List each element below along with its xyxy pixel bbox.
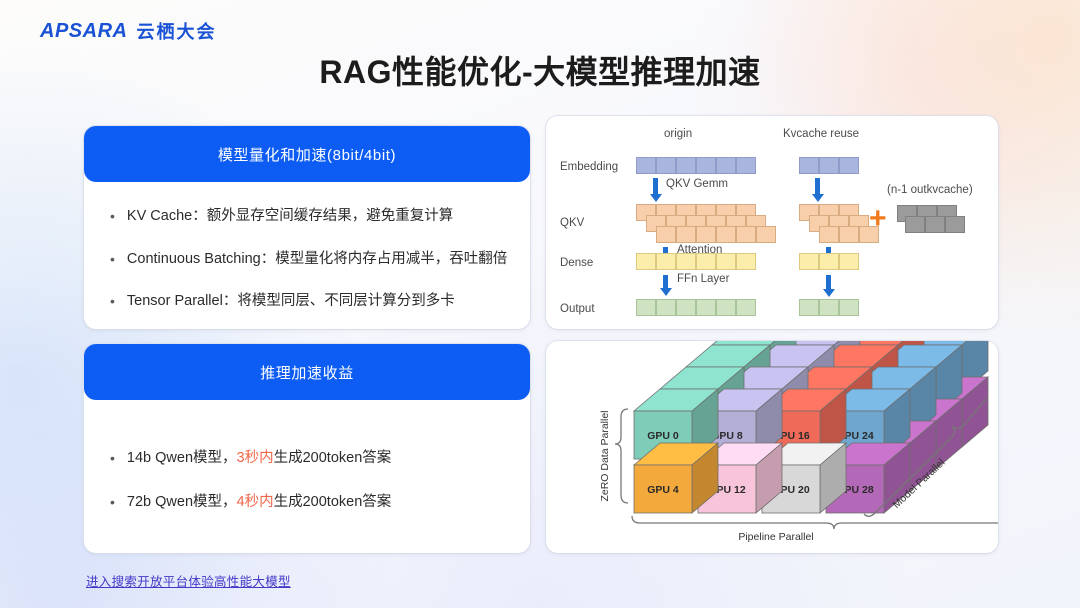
origin-embedding-blocks (636, 157, 756, 174)
panel-speedup-gain: 推理加速收益 • 14b Qwen模型，3秒内生成200token答案 • 72… (84, 344, 530, 553)
bullet-text: 72b Qwen模型，4秒内生成200token答案 (127, 494, 391, 511)
bullet-dot-icon: • (110, 494, 115, 512)
brace-bottom (632, 516, 998, 529)
axis-label-zero-data-parallel: ZeRO Data Parallel (599, 410, 611, 501)
highlight-text: 3秒内 (237, 450, 274, 466)
gpu-parallelism-diagram: GPU 24GPU 16GPU 8GPU 0GPU 28GPU 20GPU 12… (546, 341, 998, 553)
panel-kvcache-diagram: origin Kvcache reuse Embedding QKV Dense… (546, 116, 998, 329)
highlight-text: 4秒内 (237, 494, 274, 510)
bullet-text: Tensor Parallel：将模型同层、不同层计算分到多卡 (127, 293, 455, 310)
arrow-label-qkv-gemm: QKV Gemm (666, 178, 728, 190)
search-platform-link[interactable]: 进入搜索开放平台体验高性能大模型 (86, 571, 291, 590)
cache-label: (n-1 outkvcache) (887, 184, 973, 196)
plus-icon: + (869, 204, 887, 234)
column-header-origin: origin (664, 128, 692, 140)
cache-blocks-layer2 (905, 216, 965, 233)
row-label-output: Output (560, 303, 595, 315)
arrow-reuse-qkv-gemm (815, 178, 820, 195)
brace-left (615, 409, 628, 503)
logo-apsara-text: APSARA (40, 20, 127, 43)
reuse-output-blocks (799, 299, 859, 316)
row-label-qkv: QKV (560, 217, 584, 229)
arrow-qkv-gemm (653, 178, 658, 195)
list-item: • Tensor Parallel：将模型同层、不同层计算分到多卡 (110, 293, 510, 311)
bullet-dot-icon: • (110, 208, 115, 226)
list-item: • 72b Qwen模型，4秒内生成200token答案 (110, 494, 510, 512)
bullet-dot-icon: • (110, 251, 115, 269)
origin-qkv-blocks-layer3 (656, 226, 776, 243)
panel-gpu-parallelism: GPU 24GPU 16GPU 8GPU 0GPU 28GPU 20GPU 12… (546, 341, 998, 553)
bullet-text: KV Cache：额外显存空间缓存结果，避免重复计算 (127, 208, 453, 225)
page-title: RAG性能优化-大模型推理加速 (0, 47, 1080, 93)
row-label-embedding: Embedding (560, 161, 618, 173)
gpu-cube-label: GPU 0 (647, 430, 679, 442)
arrow-reuse-ffn (826, 275, 831, 290)
list-item: • 14b Qwen模型，3秒内生成200token答案 (110, 450, 510, 468)
slide-root: APSARA 云栖大会 RAG性能优化-大模型推理加速 模型量化和加速(8bit… (0, 0, 1080, 608)
panel-quantization-header: 模型量化和加速(8bit/4bit) (84, 126, 530, 182)
bullet-dot-icon: • (110, 293, 115, 311)
logo-chinese-text: 云栖大会 (136, 18, 216, 44)
brand-logo: APSARA 云栖大会 (40, 18, 216, 44)
reuse-dense-blocks (799, 253, 859, 270)
column-header-kvcache-reuse: Kvcache reuse (783, 128, 859, 140)
axis-label-pipeline-parallel: Pipeline Parallel (738, 531, 813, 543)
origin-dense-blocks (636, 253, 756, 270)
reuse-embedding-blocks (799, 157, 859, 174)
gpu-cube-label: GPU 4 (647, 484, 679, 496)
list-item: • Continuous Batching：模型量化将内存占用减半，吞吐翻倍 (110, 251, 510, 269)
origin-output-blocks (636, 299, 756, 316)
kvcache-diagram: origin Kvcache reuse Embedding QKV Dense… (546, 116, 998, 329)
bullet-dot-icon: • (110, 450, 115, 468)
bullet-text: Continuous Batching：模型量化将内存占用减半，吞吐翻倍 (127, 251, 507, 268)
arrow-ffn-layer (663, 275, 668, 289)
list-item: • KV Cache：额外显存空间缓存结果，避免重复计算 (110, 208, 510, 226)
panel-speedup-gain-bullets: • 14b Qwen模型，3秒内生成200token答案 • 72b Qwen模… (110, 450, 510, 511)
panel-speedup-gain-header: 推理加速收益 (84, 344, 530, 400)
arrow-label-ffn-layer: FFn Layer (677, 273, 729, 285)
bullet-text: 14b Qwen模型，3秒内生成200token答案 (127, 450, 391, 467)
panel-quantization: 模型量化和加速(8bit/4bit) • KV Cache：额外显存空间缓存结果… (84, 126, 530, 329)
panel-quantization-bullets: • KV Cache：额外显存空间缓存结果，避免重复计算 • Continuou… (110, 208, 510, 311)
row-label-dense: Dense (560, 257, 593, 269)
